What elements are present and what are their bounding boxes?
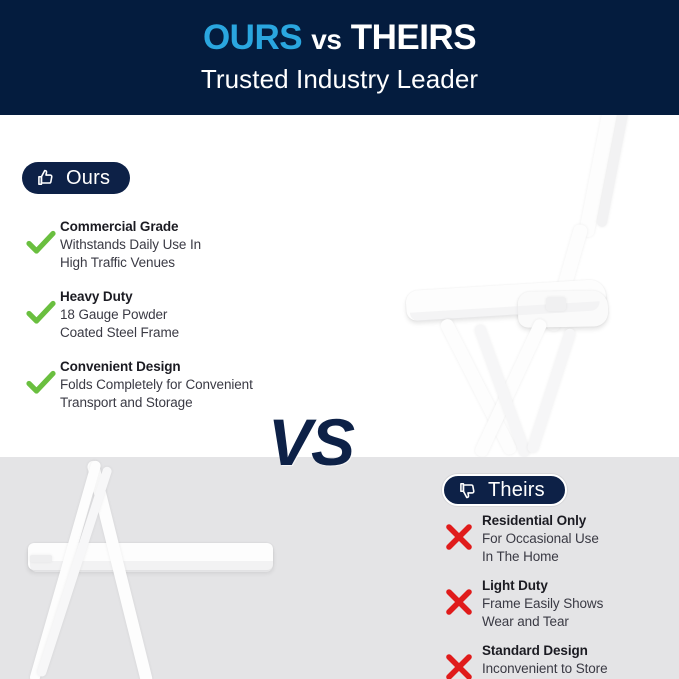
feature-line-2: In The Home	[482, 548, 599, 566]
list-item: Residential Only For Occasional Use In T…	[436, 512, 676, 566]
thumbs-up-icon	[36, 168, 56, 188]
feature-line-1: Frame Easily Shows	[482, 595, 603, 613]
list-item-text: Convenient Design Folds Completely for C…	[60, 358, 253, 412]
list-item-text: Residential Only For Occasional Use In T…	[482, 512, 599, 566]
feature-title: Commercial Grade	[60, 218, 201, 236]
theirs-feature-list: Residential Only For Occasional Use In T…	[436, 512, 676, 679]
feature-title: Convenient Design	[60, 358, 253, 376]
check-icon	[22, 288, 60, 326]
thumbs-down-icon	[458, 480, 478, 500]
feature-line-1: Withstands Daily Use In	[60, 236, 201, 254]
feature-line-1: Folds Completely for Convenient	[60, 376, 253, 394]
theirs-badge: Theirs	[442, 474, 567, 506]
feature-title: Residential Only	[482, 512, 599, 530]
theirs-badge-label: Theirs	[488, 479, 545, 502]
x-icon	[436, 577, 482, 617]
list-item: Commercial Grade Withstands Daily Use In…	[22, 218, 322, 272]
list-item-text: Standard Design Inconvenient to Store an…	[482, 642, 608, 679]
list-item: Convenient Design Folds Completely for C…	[22, 358, 322, 412]
check-icon	[22, 218, 60, 256]
feature-title: Standard Design	[482, 642, 608, 660]
comparison-infographic: OURS vs THEIRS Trusted Industry Leader V…	[0, 0, 679, 679]
feature-title: Heavy Duty	[60, 288, 179, 306]
x-icon	[436, 642, 482, 679]
page-title: OURS vs THEIRS	[203, 20, 476, 55]
list-item-text: Commercial Grade Withstands Daily Use In…	[60, 218, 201, 272]
ours-chair-image	[398, 115, 679, 457]
feature-line-1: 18 Gauge Powder	[60, 306, 179, 324]
title-theirs: THEIRS	[351, 18, 476, 57]
list-item: Standard Design Inconvenient to Store an…	[436, 642, 676, 679]
theirs-chair-image	[0, 457, 300, 679]
list-item-text: Heavy Duty 18 Gauge Powder Coated Steel …	[60, 288, 179, 342]
feature-line-2: Wear and Tear	[482, 613, 603, 631]
feature-line-2: High Traffic Venues	[60, 254, 201, 272]
header-subtitle: Trusted Industry Leader	[201, 64, 478, 95]
title-vs: vs	[311, 24, 341, 55]
list-item: Light Duty Frame Easily Shows Wear and T…	[436, 577, 676, 631]
check-icon	[22, 358, 60, 396]
header-banner: OURS vs THEIRS Trusted Industry Leader	[0, 0, 679, 115]
x-icon	[436, 512, 482, 552]
feature-title: Light Duty	[482, 577, 603, 595]
list-item-text: Light Duty Frame Easily Shows Wear and T…	[482, 577, 603, 631]
list-item: Heavy Duty 18 Gauge Powder Coated Steel …	[22, 288, 322, 342]
feature-line-1: For Occasional Use	[482, 530, 599, 548]
feature-line-2: Coated Steel Frame	[60, 324, 179, 342]
feature-line-1: Inconvenient to Store	[482, 660, 608, 678]
ours-badge: Ours	[22, 162, 130, 194]
ours-feature-list: Commercial Grade Withstands Daily Use In…	[22, 218, 322, 428]
title-ours: OURS	[203, 18, 302, 57]
feature-line-2: Transport and Storage	[60, 394, 253, 412]
ours-badge-label: Ours	[66, 167, 110, 190]
